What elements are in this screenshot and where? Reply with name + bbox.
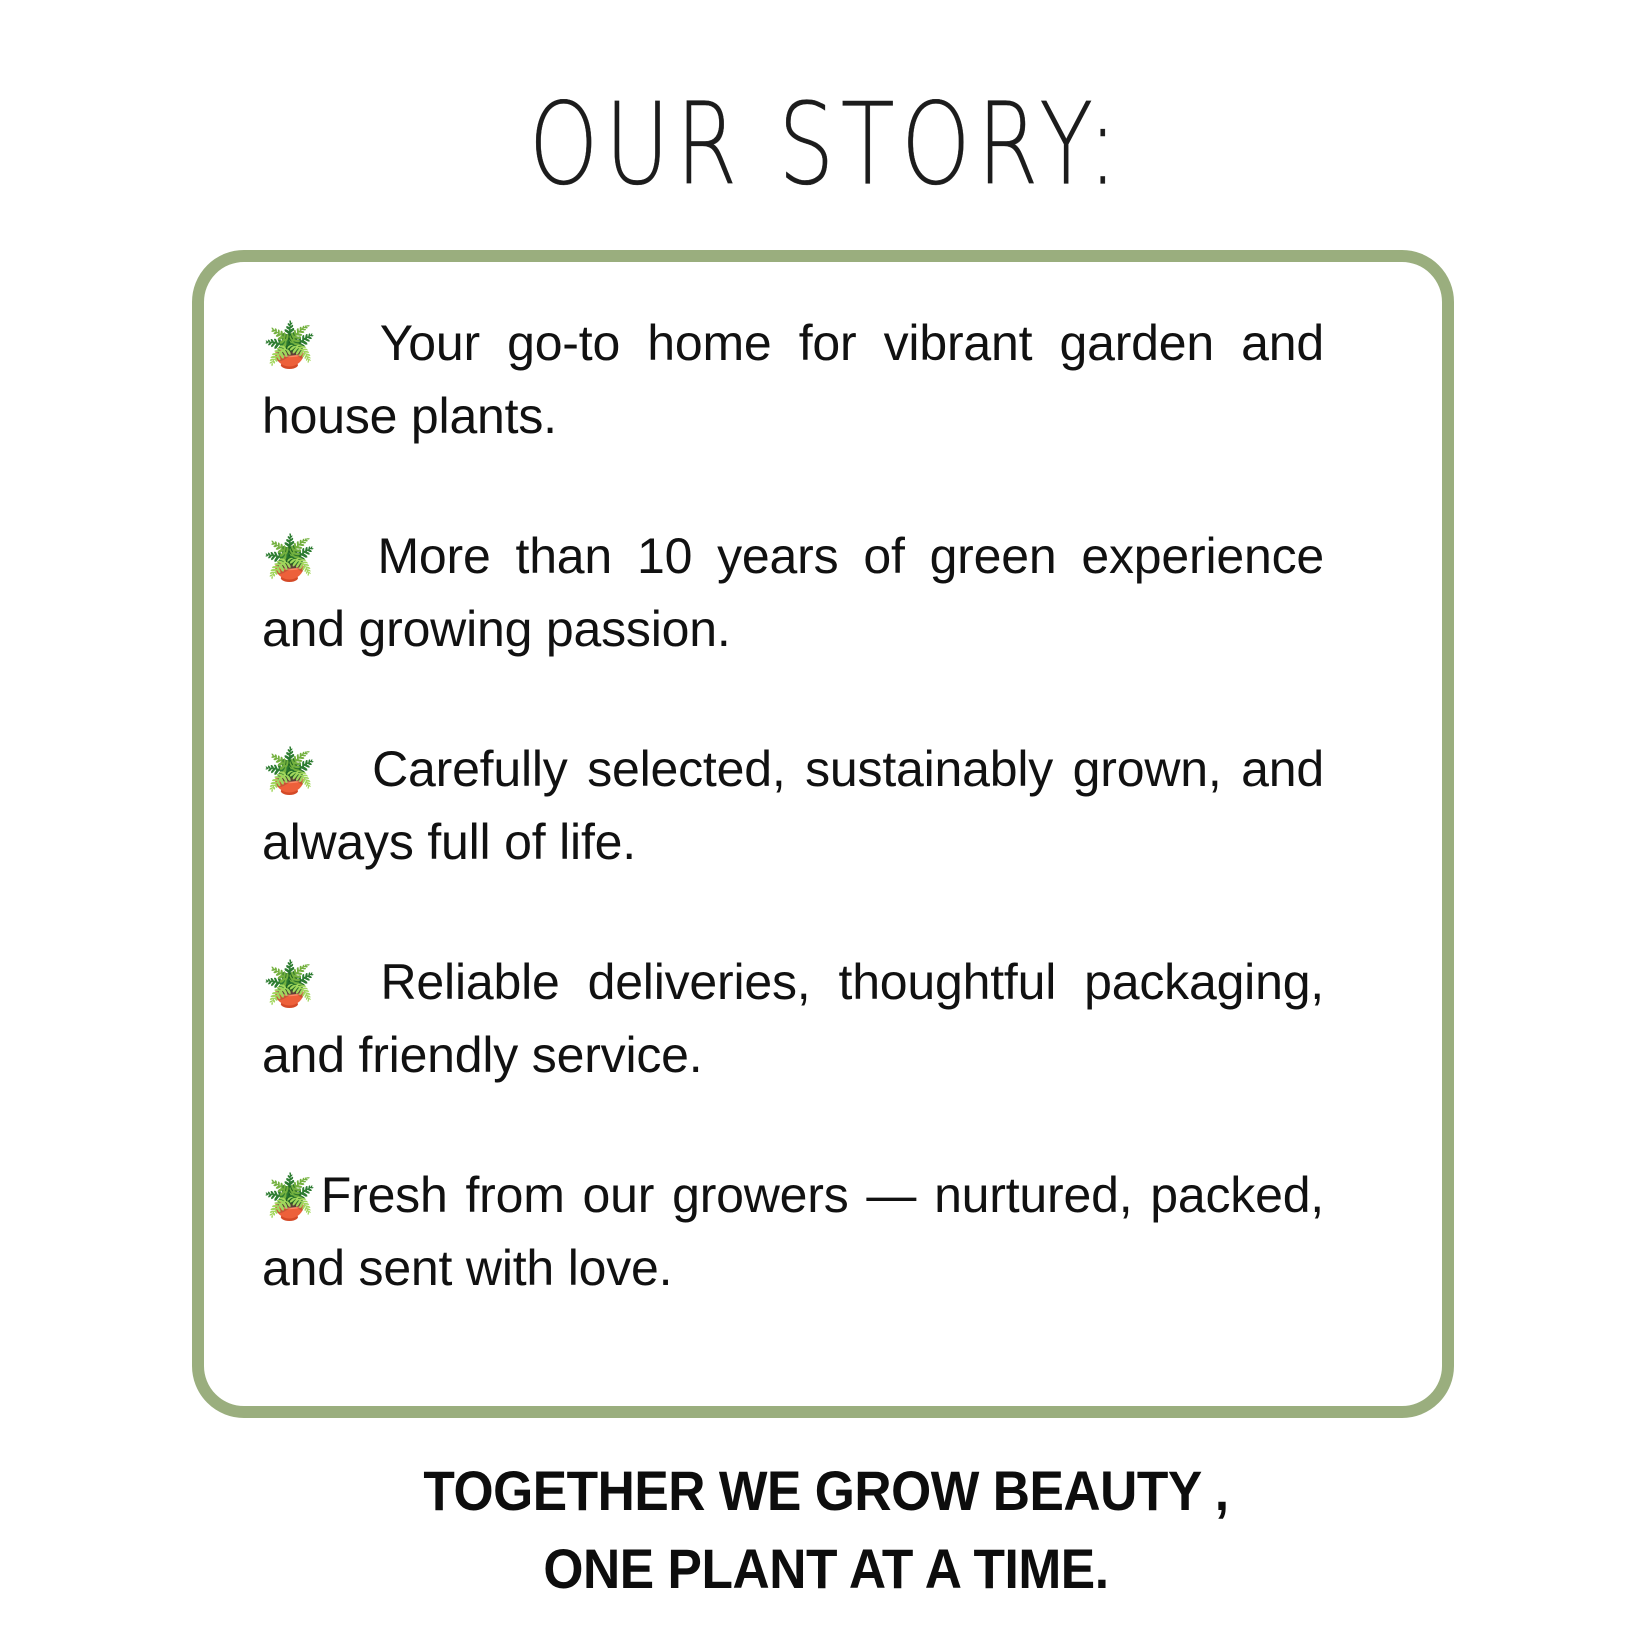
- poster-canvas: OUR STORY: 🪴 Your go-to home for vibrant…: [0, 0, 1652, 1652]
- list-item-spacer: [331, 954, 381, 1010]
- potted-plant-icon: 🪴: [262, 533, 328, 584]
- list-item-spacer: [328, 528, 378, 584]
- page-title-container: OUR STORY:: [0, 88, 1652, 184]
- potted-plant-icon: 🪴: [262, 1172, 321, 1223]
- list-item-text: More than 10 years of green experience a…: [262, 528, 1324, 657]
- list-item: 🪴Fresh from our growers — nurtured, pack…: [262, 1160, 1324, 1303]
- list-item-spacer: [330, 315, 380, 371]
- potted-plant-icon: 🪴: [262, 959, 331, 1010]
- page-title: OUR STORY:: [528, 88, 1123, 201]
- list-item-spacer: [323, 741, 373, 797]
- footer-tagline-line-2: ONE PLANT AT A TIME.: [66, 1530, 1586, 1608]
- list-item: 🪴 Reliable deliveries, thoughtful packag…: [262, 947, 1324, 1090]
- story-card: 🪴 Your go-to home for vibrant garden and…: [192, 250, 1454, 1418]
- potted-plant-icon: 🪴: [262, 320, 330, 371]
- footer-tagline: TOGETHER WE GROW BEAUTY , ONE PLANT AT A…: [0, 1452, 1652, 1608]
- footer-tagline-line-1: TOGETHER WE GROW BEAUTY ,: [66, 1452, 1586, 1530]
- list-item-text: Fresh from our growers — nurtured, packe…: [262, 1167, 1324, 1296]
- list-item: 🪴 Carefully selected, sustainably grown,…: [262, 734, 1324, 877]
- list-item: 🪴 More than 10 years of green experience…: [262, 521, 1324, 664]
- story-card-content: 🪴 Your go-to home for vibrant garden and…: [262, 308, 1324, 1303]
- potted-plant-icon: 🪴: [262, 746, 323, 797]
- list-item-text: Reliable deliveries, thoughtful packagin…: [262, 954, 1324, 1083]
- list-item-text: Your go-to home for vibrant garden and h…: [262, 315, 1324, 444]
- list-item-text: Carefully selected, sustainably grown, a…: [262, 741, 1324, 870]
- list-item: 🪴 Your go-to home for vibrant garden and…: [262, 308, 1324, 451]
